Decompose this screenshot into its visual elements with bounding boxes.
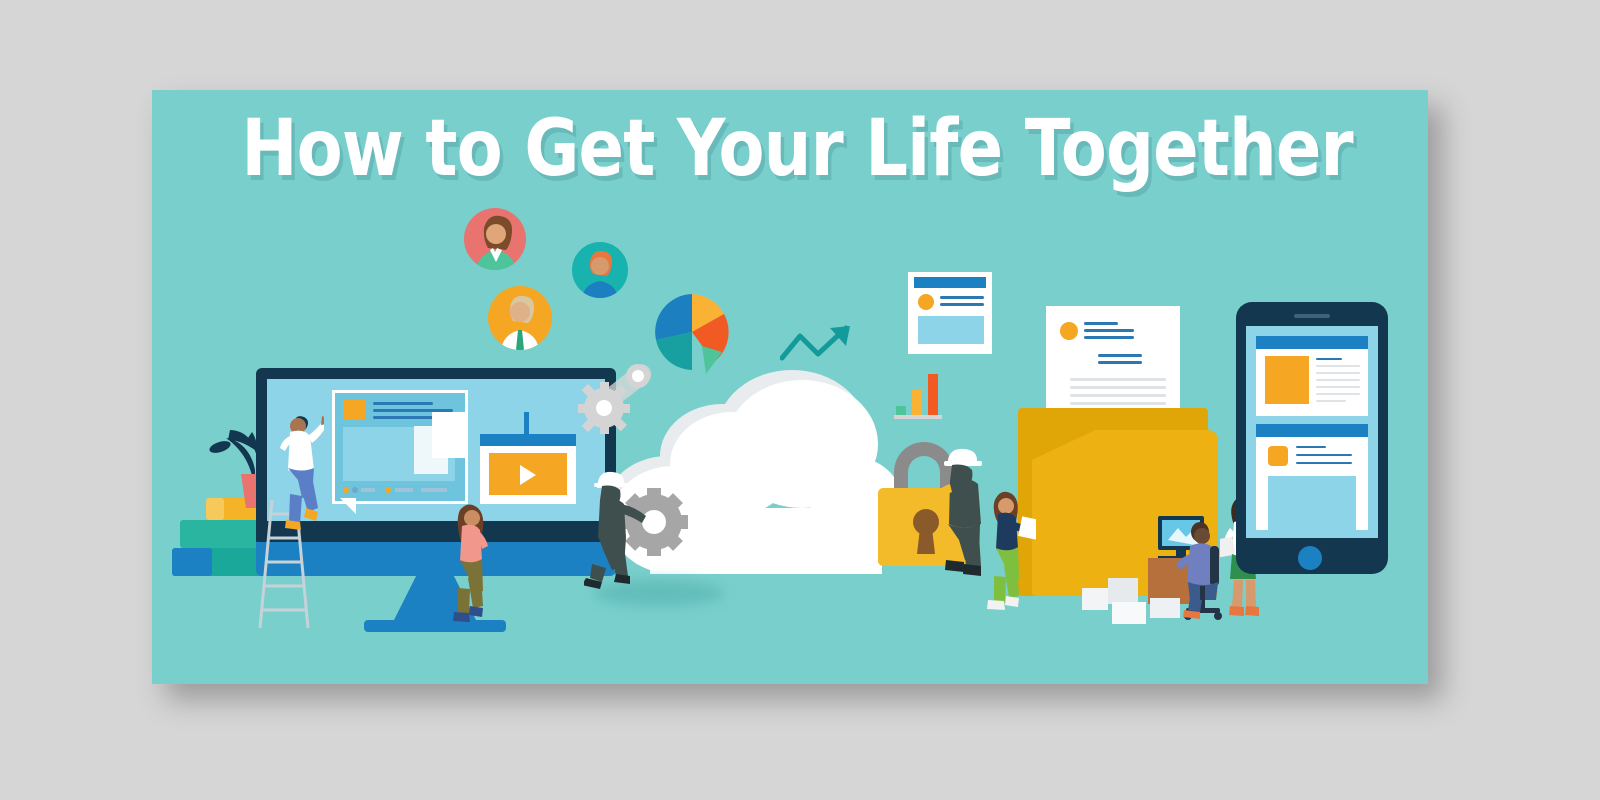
document-body-line bbox=[1070, 378, 1166, 381]
avatar-circle-woman[interactable] bbox=[464, 208, 526, 270]
bar-chart-icon bbox=[894, 370, 946, 420]
floor-box bbox=[1082, 588, 1108, 610]
video-card-stem bbox=[524, 412, 529, 436]
post-thumbnail bbox=[343, 400, 365, 420]
smartphone[interactable] bbox=[1236, 302, 1388, 574]
browser-avatar bbox=[918, 294, 934, 310]
post-reactions-row[interactable] bbox=[343, 486, 455, 494]
reaction-icon[interactable] bbox=[385, 487, 391, 493]
page-root: How to Get Your Life Together bbox=[0, 0, 1600, 800]
phone-card-line bbox=[1316, 393, 1360, 395]
phone-card-header-bar bbox=[1256, 336, 1368, 349]
phone-card-top[interactable] bbox=[1256, 336, 1368, 416]
document-subheading-line bbox=[1098, 354, 1142, 357]
floor-box bbox=[1150, 598, 1180, 618]
document-body-line bbox=[1070, 386, 1166, 389]
phone-card-line bbox=[1296, 454, 1352, 456]
book-bottom-spine-left bbox=[172, 548, 212, 576]
phone-card-image-block bbox=[1268, 476, 1356, 530]
phone-card-line bbox=[1296, 446, 1326, 448]
browser-titlebar bbox=[914, 277, 986, 288]
document-avatar bbox=[1060, 322, 1078, 340]
phone-card-line bbox=[1316, 358, 1342, 360]
avatar-circle-man-blue[interactable] bbox=[572, 242, 628, 298]
woman-filing bbox=[980, 488, 1036, 616]
worker-gear-icon bbox=[584, 466, 696, 590]
phone-card-bottom[interactable] bbox=[1256, 424, 1368, 530]
woman-by-monitor bbox=[446, 502, 494, 626]
document-heading-line bbox=[1084, 336, 1134, 339]
post-text-line bbox=[373, 402, 433, 405]
reaction-icon[interactable] bbox=[361, 488, 375, 492]
phone-home-button[interactable] bbox=[1298, 546, 1322, 570]
phone-card-line bbox=[1316, 372, 1360, 374]
document-subheading-line bbox=[1098, 361, 1142, 364]
phone-card-avatar bbox=[1268, 446, 1288, 466]
paper-sheet-front bbox=[432, 412, 468, 458]
worker-with-gear bbox=[584, 466, 696, 590]
avatar-man-icon bbox=[572, 242, 628, 298]
phone-speaker bbox=[1294, 314, 1330, 318]
reaction-icon[interactable] bbox=[352, 487, 358, 493]
video-player-card[interactable] bbox=[480, 434, 576, 504]
page-title: How to Get Your Life Together bbox=[241, 104, 1338, 194]
play-icon[interactable] bbox=[520, 465, 536, 485]
phone-card-header-bar bbox=[1256, 424, 1368, 437]
avatar-man-tie-icon bbox=[488, 286, 552, 350]
browser-image-block bbox=[918, 316, 984, 344]
document-heading-line bbox=[1084, 322, 1118, 325]
floor-box bbox=[1108, 578, 1138, 604]
document-heading-line bbox=[1084, 329, 1134, 332]
phone-card-line bbox=[1296, 462, 1352, 464]
phone-screen bbox=[1246, 326, 1378, 538]
document-body-line bbox=[1070, 394, 1166, 397]
avatar-woman-icon bbox=[464, 208, 526, 270]
phone-card-line bbox=[1316, 379, 1360, 381]
browser-card[interactable] bbox=[908, 272, 992, 354]
browser-text-line bbox=[940, 296, 984, 299]
browser-text-line bbox=[940, 303, 984, 306]
phone-card-line bbox=[1316, 365, 1360, 367]
reaction-icon[interactable] bbox=[343, 487, 349, 493]
person-filing-icon bbox=[980, 488, 1036, 616]
banner-illustration: How to Get Your Life Together bbox=[152, 90, 1428, 684]
phone-card-image bbox=[1265, 356, 1309, 404]
phone-card-line bbox=[1316, 386, 1360, 388]
person-climbing-icon bbox=[260, 412, 324, 548]
bar-chart bbox=[894, 370, 946, 420]
floor-boxes bbox=[1082, 574, 1202, 624]
man-on-ladder bbox=[260, 412, 324, 548]
reaction-icon[interactable] bbox=[421, 488, 447, 492]
phone-card-line bbox=[1316, 400, 1346, 402]
person-standing-icon bbox=[446, 502, 494, 626]
reaction-icon[interactable] bbox=[395, 488, 413, 492]
avatar-circle-man-tie[interactable] bbox=[488, 286, 552, 350]
floor-box bbox=[1112, 602, 1146, 624]
video-card-titlebar bbox=[480, 434, 576, 446]
